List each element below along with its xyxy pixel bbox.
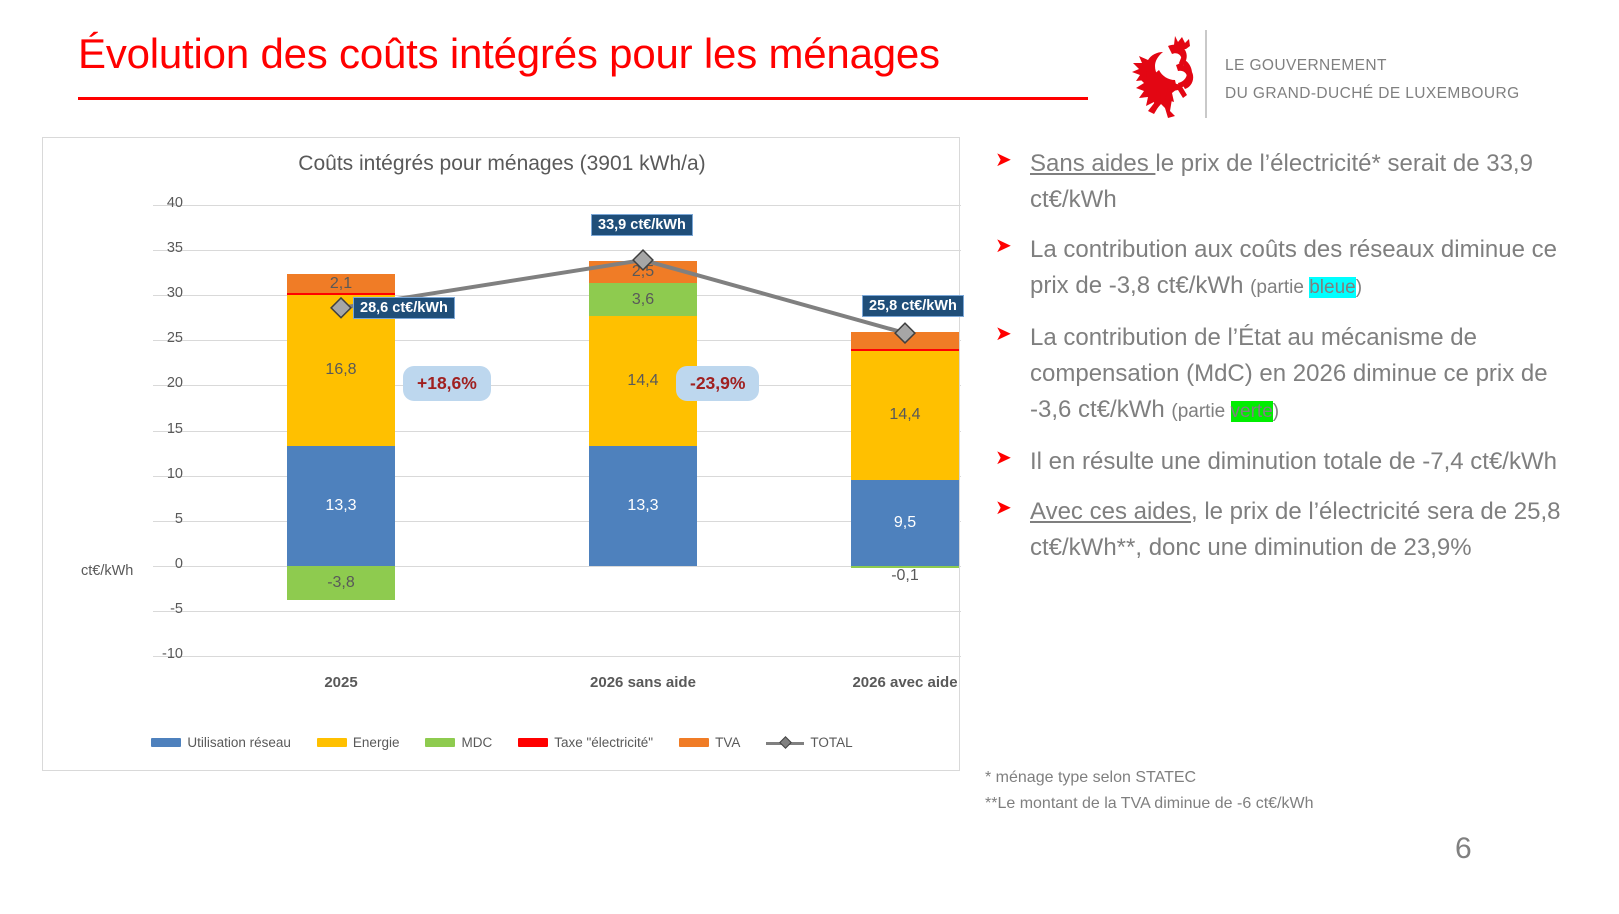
y-axis-tick: 10 bbox=[135, 466, 183, 482]
bullet-text-run: (partie bbox=[1171, 401, 1230, 422]
legend-label: Taxe "électricité" bbox=[554, 735, 653, 750]
legend-label: TVA bbox=[715, 735, 740, 750]
gridline bbox=[153, 521, 961, 522]
bar-segment-value: -3,8 bbox=[327, 574, 355, 592]
bar-segment-orange: 2,1 bbox=[287, 274, 395, 293]
legend-item[interactable]: Utilisation réseau bbox=[151, 735, 291, 750]
y-axis-tick: 15 bbox=[135, 421, 183, 437]
legend-swatch bbox=[425, 738, 455, 747]
bar-segment-value: 13,3 bbox=[325, 497, 356, 515]
percent-change-badge: -23,9% bbox=[676, 366, 759, 401]
government-wordmark: LE GOUVERNEMENT DU GRAND-DUCHÉ DE LUXEMB… bbox=[1225, 52, 1520, 108]
bullet-arrow-icon: ➤ bbox=[995, 150, 1015, 170]
bullet-diminution-totale: ➤Il en résulte une diminution totale de … bbox=[985, 444, 1585, 480]
total-value-callout: 25,8 ct€/kWh bbox=[862, 295, 964, 317]
legend-label: Utilisation réseau bbox=[187, 735, 291, 750]
gridline bbox=[153, 250, 961, 251]
gridline bbox=[153, 431, 961, 432]
chart-legend: Utilisation réseauEnergieMDCTaxe "électr… bbox=[43, 735, 961, 750]
y-axis-tick: 35 bbox=[135, 240, 183, 256]
y-axis-tick: 0 bbox=[135, 556, 183, 572]
percent-change-badge: +18,6% bbox=[403, 366, 491, 401]
legend-item[interactable]: TVA bbox=[679, 735, 740, 750]
gridline bbox=[153, 656, 961, 657]
y-axis-tick: 5 bbox=[135, 511, 183, 527]
total-value-callout: 33,9 ct€/kWh bbox=[591, 214, 693, 236]
bullet-text-run: Avec ces aides bbox=[1030, 498, 1191, 525]
bullet-text-run: (partie bbox=[1250, 277, 1309, 298]
legend-label: Energie bbox=[353, 735, 400, 750]
bar-segment-blue: 9,5 bbox=[851, 480, 959, 566]
bar-segment-green: -3,8 bbox=[287, 566, 395, 600]
bar-segment-blue: 13,3 bbox=[589, 446, 697, 566]
legend-item[interactable]: Energie bbox=[317, 735, 400, 750]
bullet-sans-aides: ➤Sans aides le prix de l’électricité* se… bbox=[985, 146, 1585, 218]
bar-column: 13,316,8-3,82,1 bbox=[287, 194, 395, 724]
gov-line-2: DU GRAND-DUCHÉ DE LUXEMBOURG bbox=[1225, 80, 1520, 108]
legend-item[interactable]: MDC bbox=[425, 735, 492, 750]
y-axis-tick: 40 bbox=[135, 195, 183, 211]
bar-segment-value-outside: -0,1 bbox=[851, 567, 959, 585]
bullet-arrow-icon: ➤ bbox=[995, 448, 1015, 468]
bar-segment-value: 14,4 bbox=[627, 372, 658, 390]
bar-segment-value: 2,5 bbox=[632, 263, 654, 281]
gridline bbox=[153, 340, 961, 341]
gov-line-1: LE GOUVERNEMENT bbox=[1225, 52, 1520, 80]
y-axis-unit-label: ct€/kWh bbox=[81, 563, 133, 579]
bar-segment-blue: 13,3 bbox=[287, 446, 395, 566]
bullet-arrow-icon: ➤ bbox=[995, 236, 1015, 256]
bar-segment-value: 9,5 bbox=[894, 514, 916, 532]
x-axis-label: 2025 bbox=[241, 674, 441, 691]
bullet-avec-aides: ➤Avec ces aides, le prix de l’électricit… bbox=[985, 494, 1585, 566]
gridline bbox=[153, 295, 961, 296]
bar-column: 9,514,4 bbox=[851, 194, 959, 724]
bullet-etat-mdc: ➤La contribution de l’État au mécanisme … bbox=[985, 320, 1585, 430]
total-line-legend-marker bbox=[766, 737, 804, 749]
bullet-arrow-icon: ➤ bbox=[995, 324, 1015, 344]
x-axis-label: 2026 avec aide bbox=[805, 674, 1005, 691]
bar-segment-red bbox=[851, 349, 959, 351]
chart-container: Coûts intégrés pour ménages (3901 kWh/a)… bbox=[42, 137, 960, 771]
bar-segment-value: 13,3 bbox=[627, 497, 658, 515]
bullet-text-run: verte bbox=[1231, 401, 1273, 422]
total-value-callout: 28,6 ct€/kWh bbox=[353, 297, 455, 319]
legend-item[interactable]: Taxe "électricité" bbox=[518, 735, 653, 750]
bullet-text-run: ) bbox=[1356, 277, 1362, 298]
bullet-text-run: ) bbox=[1273, 401, 1279, 422]
legend-swatch bbox=[679, 738, 709, 747]
bar-segment-red bbox=[287, 293, 395, 295]
bar-segment-orange: 2,5 bbox=[589, 261, 697, 284]
bullet-reseaux: ➤La contribution aux coûts des réseaux d… bbox=[985, 232, 1585, 306]
y-axis-tick: -5 bbox=[135, 601, 183, 617]
bar-column: 13,314,43,62,5 bbox=[589, 194, 697, 724]
bullet-text-run: bleue bbox=[1309, 277, 1356, 298]
gridline bbox=[153, 566, 961, 567]
luxembourg-lion-logo bbox=[1113, 28, 1213, 118]
gridline bbox=[153, 611, 961, 612]
bullet-text-run: Sans aides bbox=[1030, 150, 1155, 177]
bullet-list: ➤Sans aides le prix de l’électricité* se… bbox=[985, 146, 1585, 580]
plot-area: 4035302520151050-5-10 13,316,8-3,82,113,… bbox=[153, 194, 961, 724]
legend-label: TOTAL bbox=[810, 735, 852, 750]
page-title: Évolution des coûts intégrés pour les mé… bbox=[78, 30, 940, 78]
y-axis-tick: -10 bbox=[135, 646, 183, 662]
legend-swatch bbox=[518, 738, 548, 747]
legend-swatch bbox=[317, 738, 347, 747]
bar-segment-green: 3,6 bbox=[589, 283, 697, 315]
footnote-2: **Le montant de la TVA diminue de -6 ct€… bbox=[985, 791, 1585, 817]
y-axis-tick: 30 bbox=[135, 285, 183, 301]
bar-segment-value: 14,4 bbox=[889, 406, 920, 424]
bullet-text-run: La contribution de l’État au mécanisme d… bbox=[1030, 324, 1548, 423]
footnote-1: * ménage type selon STATEC bbox=[985, 765, 1585, 791]
slide-header: Évolution des coûts intégrés pour les mé… bbox=[0, 0, 1619, 120]
x-axis-label: 2026 sans aide bbox=[543, 674, 743, 691]
bar-segment-orange bbox=[851, 332, 959, 349]
footnotes: * ménage type selon STATEC **Le montant … bbox=[985, 765, 1585, 817]
gridline bbox=[153, 476, 961, 477]
legend-swatch bbox=[151, 738, 181, 747]
bullet-arrow-icon: ➤ bbox=[995, 498, 1015, 518]
y-axis-tick: 25 bbox=[135, 330, 183, 346]
legend-item-total[interactable]: TOTAL bbox=[766, 735, 852, 750]
bar-segment-yellow: 14,4 bbox=[851, 350, 959, 480]
logo-divider bbox=[1205, 30, 1207, 118]
gridline bbox=[153, 205, 961, 206]
title-underline-rule bbox=[78, 97, 1088, 100]
bullet-text-run: Il en résulte une diminution totale de -… bbox=[1030, 448, 1557, 475]
y-axis-tick: 20 bbox=[135, 375, 183, 391]
bar-segment-value: 3,6 bbox=[632, 291, 654, 309]
chart-title: Coûts intégrés pour ménages (3901 kWh/a) bbox=[43, 152, 961, 176]
bar-segment-value: 16,8 bbox=[325, 361, 356, 379]
legend-label: MDC bbox=[461, 735, 492, 750]
gridline bbox=[153, 385, 961, 386]
bar-segment-value: 2,1 bbox=[330, 275, 352, 293]
page-number: 6 bbox=[1455, 832, 1472, 866]
